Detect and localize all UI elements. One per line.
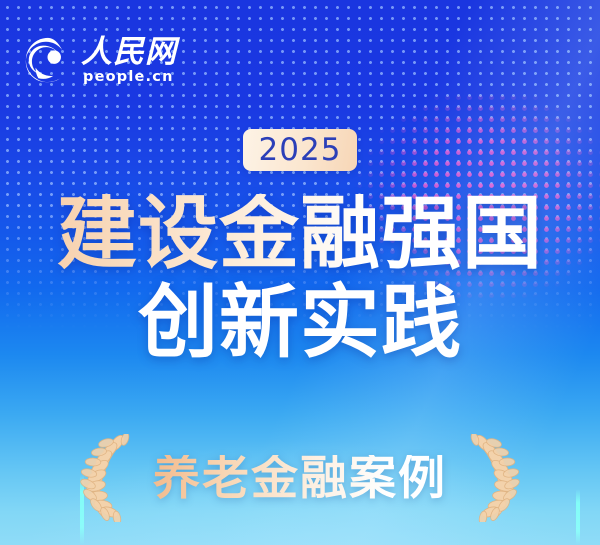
headline-line-2: 创新实践 — [0, 283, 600, 363]
poster-banner: 人民网 people.cn 2025 建设金融强国 创新实践 — [0, 0, 600, 545]
logo-wordmark: 人民网 people.cn — [81, 36, 177, 85]
headline-line-1: 建设金融强国 — [0, 194, 600, 274]
logo-chinese-name: 人民网 — [81, 36, 177, 68]
subtitle-row: 养老金融案例 — [0, 432, 600, 524]
year-badge: 2025 — [243, 129, 357, 171]
subtitle-text: 养老金融案例 — [153, 455, 447, 502]
people-cn-swirl-logo-icon — [24, 36, 72, 84]
laurel-branch-right-icon — [463, 434, 523, 522]
year-badge-label: 2025 — [259, 135, 342, 166]
site-logo[interactable]: 人民网 people.cn — [24, 36, 177, 85]
logo-latin-name: people.cn — [81, 70, 177, 85]
laurel-branch-left-icon — [77, 434, 137, 522]
